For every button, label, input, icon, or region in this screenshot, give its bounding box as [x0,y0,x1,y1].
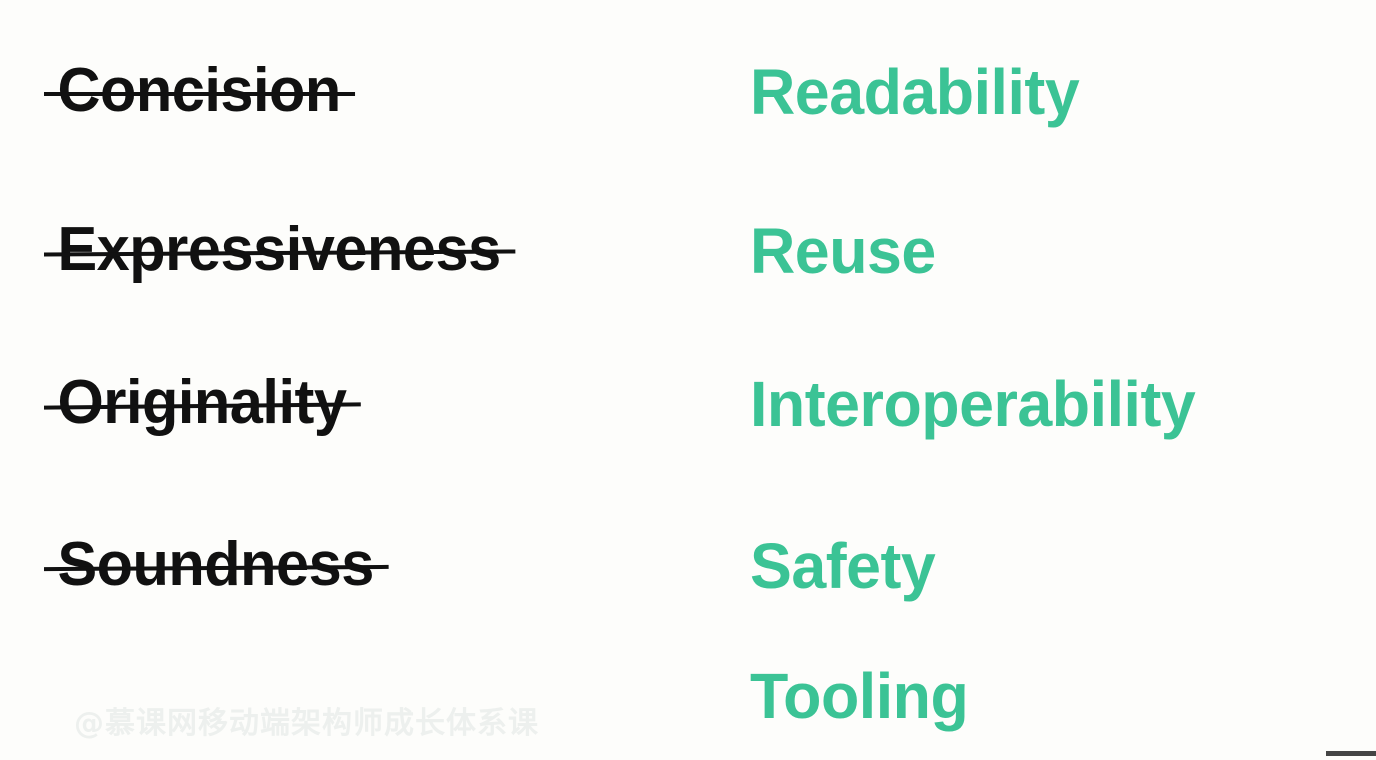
rejected-goal-label: Concision [44,60,355,122]
rejected-goals-column: Concision Expressiveness Originality Sou… [44,0,724,760]
rejected-goal-label: Originality [44,372,361,434]
rejected-goal-soundness: Soundness [44,534,388,596]
accepted-goal-interoperability: Interoperability [750,372,1195,436]
slide-canvas: Concision Expressiveness Originality Sou… [0,0,1376,760]
rejected-goal-expressiveness: Expressiveness [44,219,515,281]
accepted-goal-tooling: Tooling [750,664,968,728]
channel-watermark: @慕课网移动端架构师成长体系课 [74,698,539,742]
accepted-goal-reuse: Reuse [750,219,936,283]
rejected-goal-originality: Originality [44,372,361,434]
rejected-goal-concision: Concision [44,60,355,122]
accepted-goals-column: Readability Reuse Interoperability Safet… [750,0,1376,760]
video-progress-bar[interactable] [1326,751,1376,756]
accepted-goal-readability: Readability [750,60,1079,124]
accepted-goal-safety: Safety [750,534,935,598]
rejected-goal-label: Soundness [44,534,388,596]
rejected-goal-label: Expressiveness [44,219,515,281]
